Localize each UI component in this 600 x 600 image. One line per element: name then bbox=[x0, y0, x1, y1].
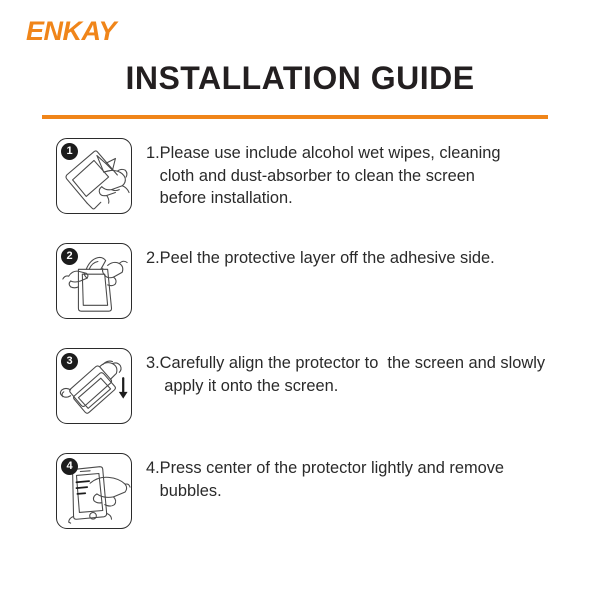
header-divider bbox=[42, 115, 548, 119]
step-icon-2: 2 bbox=[56, 243, 132, 319]
step-badge: 1 bbox=[61, 143, 78, 160]
step-badge: 2 bbox=[61, 248, 78, 265]
press-center-illustration bbox=[69, 467, 130, 523]
step-text: 1.Please use include alcohol wet wipes, … bbox=[146, 142, 600, 210]
step-text: 2.Peel the protective layer off the adhe… bbox=[146, 247, 600, 270]
steps-list: 1 1.Please use include alcohol wet wipes… bbox=[0, 136, 600, 556]
page-title: INSTALLATION GUIDE bbox=[0, 60, 600, 97]
wipe-screen-illustration bbox=[66, 151, 129, 209]
list-item: 2 2.Peel the protective layer off the ad… bbox=[0, 241, 600, 346]
brand-logo: ENKAY bbox=[26, 18, 116, 45]
step-icon-4: 4 bbox=[56, 453, 132, 529]
step-text: 4.Press center of the protector lightly … bbox=[146, 457, 600, 502]
list-item: 3 3.Carefully align the protector to the… bbox=[0, 346, 600, 451]
list-item: 4 4.Press center of the protector lightl… bbox=[0, 451, 600, 556]
step-icon-3: 3 bbox=[56, 348, 132, 424]
step-text: 3.Carefully align the protector to the s… bbox=[146, 352, 600, 397]
step-badge: 3 bbox=[61, 353, 78, 370]
list-item: 1 1.Please use include alcohol wet wipes… bbox=[0, 136, 600, 241]
peel-layer-illustration bbox=[63, 257, 127, 311]
step-badge: 4 bbox=[61, 458, 78, 475]
step-icon-1: 1 bbox=[56, 138, 132, 214]
